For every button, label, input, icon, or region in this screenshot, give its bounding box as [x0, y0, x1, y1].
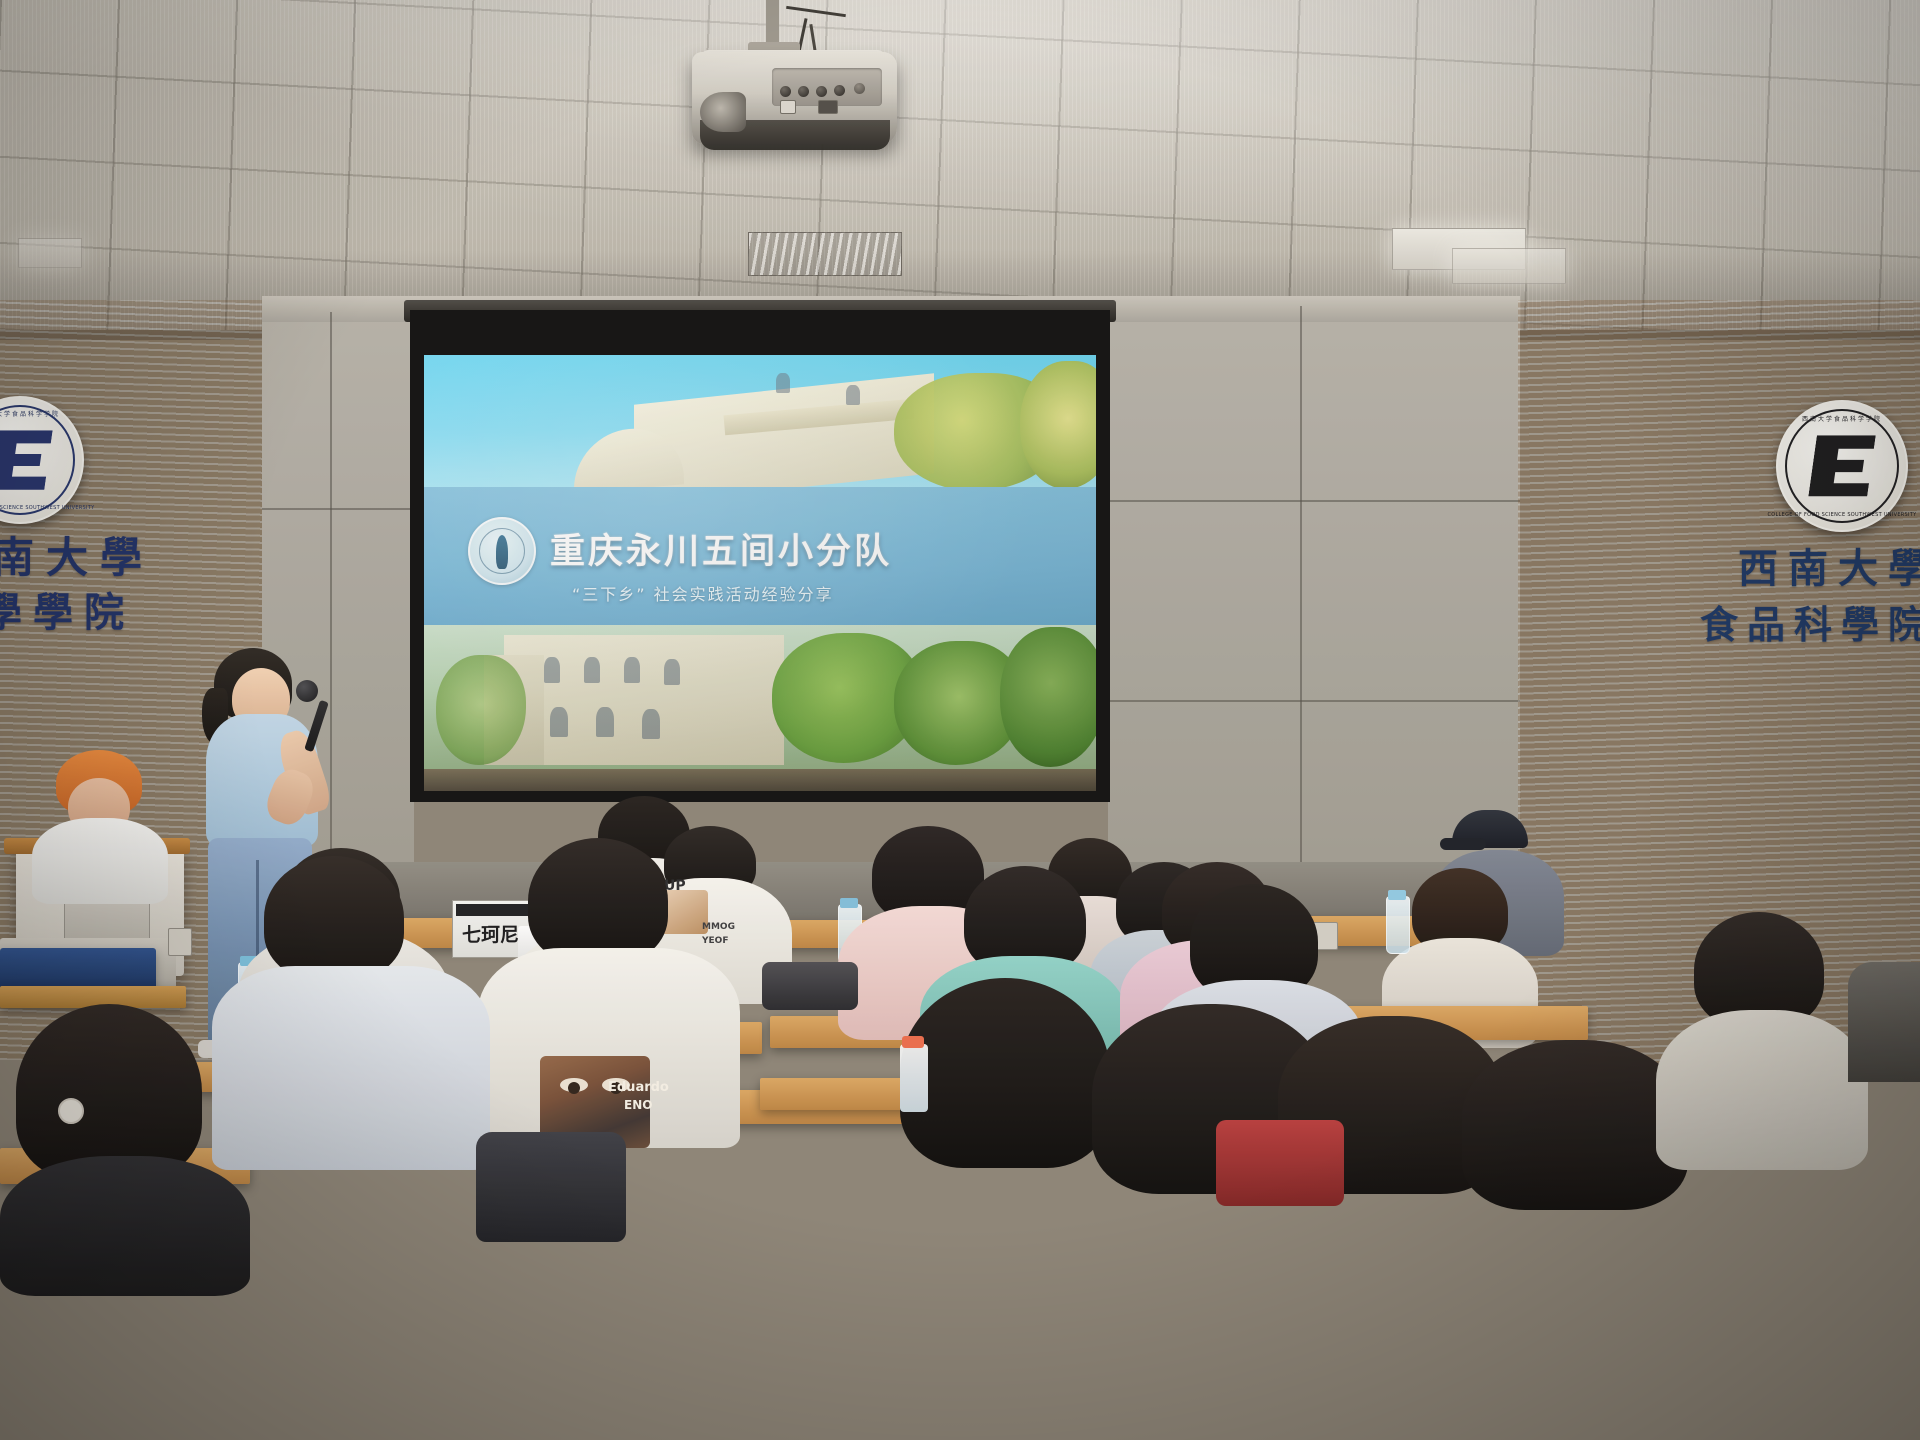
blue-desk-panel: [0, 948, 156, 990]
bag-on-desk: [762, 962, 858, 1010]
projector-usb-jack: [818, 100, 838, 114]
torso-white-shirt: [32, 818, 168, 904]
right-wall-emblem: 西南大学食品科学学院 COLLEGE OF FOOD SCIENCE SOUTH…: [1776, 400, 1908, 532]
projector-port-icon: [816, 86, 827, 97]
wall-seam: [1108, 500, 1520, 502]
tshirt-text-eno: ENO: [624, 1098, 652, 1112]
slide-window: [544, 657, 560, 683]
projector-port-icon: [834, 85, 845, 96]
torso: [212, 966, 490, 1170]
ceiling-light-panel: [1452, 248, 1566, 284]
hair-clip-icon: [58, 1098, 84, 1124]
wall-seam: [1108, 700, 1520, 702]
wall-seam-vertical: [1300, 306, 1302, 876]
water-bottle[interactable]: [1386, 896, 1410, 954]
shirt-text-yeof: YEOF: [702, 936, 728, 946]
projector-network-jack: [780, 100, 796, 114]
emblem-top-text: 西南大学食品科学学院: [1802, 414, 1882, 423]
microphone-head-icon: [296, 680, 318, 702]
classroom-photo-scene: 西南大学食品科学学院 COLLEGE OF FOOD SCIENCE SOUTH…: [0, 0, 1920, 1440]
hair: [1462, 1040, 1688, 1210]
red-chair-back: [1216, 1120, 1344, 1206]
slide-tree-bottom: [1000, 627, 1096, 767]
slide-window: [624, 657, 640, 683]
projector-ceiling-mount: [766, 0, 779, 48]
torso: [1656, 1010, 1868, 1170]
slide-window: [550, 707, 568, 737]
slide-logo-figure-icon: [496, 535, 508, 569]
torso: [0, 1156, 250, 1296]
slide-title: 重庆永川五间小分队: [550, 523, 892, 574]
hair: [528, 838, 668, 964]
projector-lens: [700, 92, 746, 132]
cap-brim: [1440, 838, 1486, 850]
slide-building-bottom: [504, 635, 784, 765]
emblem-caption: COLLEGE OF FOOD SCIENCE SOUTHWEST UNIVER…: [0, 505, 95, 511]
left-wall-calligraphy-line2: 學學院: [0, 580, 135, 638]
presentation-slide: 重庆永川五间小分队 “三下乡” 社会实践活动经验分享: [424, 355, 1096, 791]
projector-port-icon: [854, 83, 865, 94]
hair: [16, 1004, 202, 1180]
bottle-cap: [840, 898, 858, 908]
torso: [1848, 962, 1920, 1082]
wall-panel-gray: [1108, 306, 1520, 882]
projector-port-icon: [780, 86, 791, 97]
slide-window: [596, 707, 614, 737]
slide-window: [776, 373, 790, 393]
backpack: [476, 1132, 626, 1242]
bottle-cap: [902, 1036, 924, 1048]
bottle-cap: [1388, 890, 1406, 900]
wall-seam-vertical: [330, 312, 332, 872]
water-bottle[interactable]: [900, 1044, 928, 1112]
tshirt-text-eduardo: Eduardo: [608, 1080, 669, 1095]
ceiling-light-panel: [18, 238, 82, 268]
slide-window: [846, 385, 860, 405]
left-wall-calligraphy-line1: 南大學: [0, 524, 154, 585]
shirt-text-mmog: MMOG: [702, 922, 735, 932]
whiteboard-text: 七珂尼: [462, 920, 519, 947]
slide-window: [584, 657, 600, 683]
wall-seam: [262, 508, 414, 510]
graphic-pupil-icon: [568, 1082, 580, 1094]
slide-window: [642, 709, 660, 739]
right-wall-calligraphy-line1: 西南大學: [1738, 536, 1920, 594]
projector-port-icon: [798, 86, 809, 97]
slide-window: [664, 659, 680, 685]
slide-ground: [424, 769, 1096, 791]
ceiling-vent: [748, 232, 902, 276]
emblem-top-text: 西南大学食品科学学院: [0, 409, 60, 418]
right-wall-calligraphy-line2: 食品科學院: [1700, 594, 1920, 649]
hair: [900, 978, 1110, 1168]
power-socket[interactable]: [168, 928, 192, 956]
hair: [264, 856, 404, 980]
slide-logo-icon: [468, 517, 536, 585]
emblem-caption: COLLEGE OF FOOD SCIENCE SOUTHWEST UNIVER…: [1767, 512, 1916, 518]
slide-subtitle: “三下乡” 社会实践活动经验分享: [572, 581, 834, 605]
